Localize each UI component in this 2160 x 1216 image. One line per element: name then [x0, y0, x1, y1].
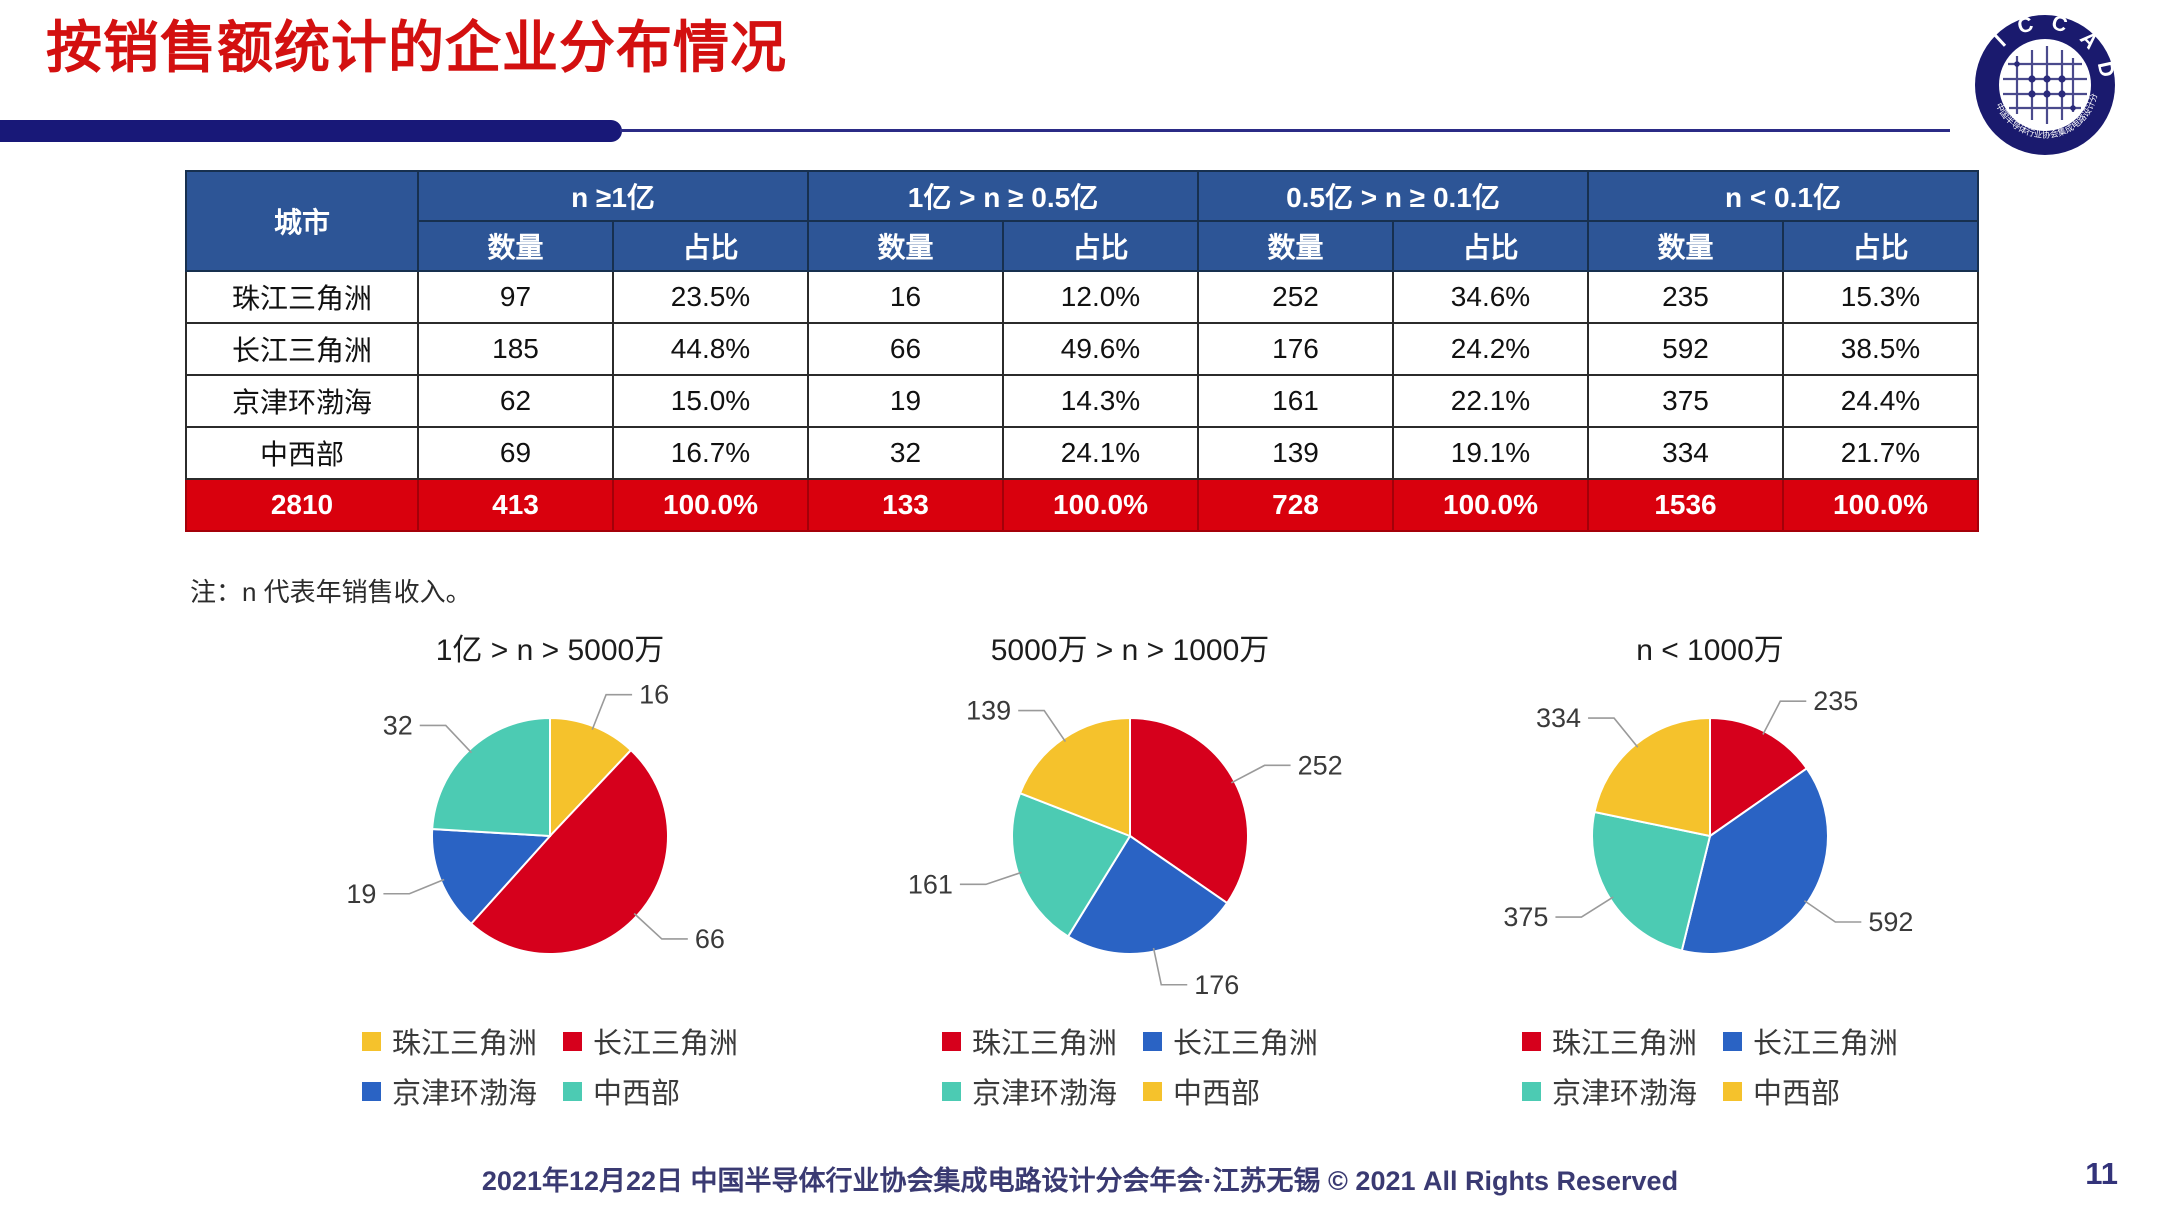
pie-leader-line [420, 725, 472, 752]
total-cell: 413 [418, 479, 613, 531]
pie-leader-line [1555, 897, 1613, 917]
cell-region: 珠江三角洲 [186, 271, 418, 323]
total-cell: 2810 [186, 479, 418, 531]
table-head: 城市 n ≥1亿 1亿 > n ≥ 0.5亿 0.5亿 > n ≥ 0.1亿 n… [186, 171, 1978, 271]
sub-header-8: 占比 [1783, 221, 1978, 271]
cell-value: 19.1% [1393, 427, 1588, 479]
legend-item[interactable]: 长江三角洲 [1723, 1020, 1898, 1062]
cell-value: 139 [1198, 427, 1393, 479]
cell-value: 16 [808, 271, 1003, 323]
pie-data-label: 334 [1536, 703, 1581, 733]
chart-title: 1亿 > n > 5000万 [250, 630, 850, 672]
sub-header-4: 占比 [1003, 221, 1198, 271]
cell-value: 592 [1588, 323, 1783, 375]
total-cell: 100.0% [1783, 479, 1978, 531]
footer-text: 2021年12月22日 中国半导体行业协会集成电路设计分会年会·江苏无锡 © 2… [0, 1159, 2160, 1198]
legend-label: 中西部 [1753, 1070, 1840, 1112]
iccad-logo: I C C A D 中国半导体行业协会集成电路设计分会 [1972, 12, 2118, 158]
pie-data-label: 592 [1868, 907, 1913, 937]
cell-value: 15.0% [613, 375, 808, 427]
pie-leader-line [592, 695, 632, 730]
group-header-1: 1亿 > n ≥ 0.5亿 [808, 171, 1198, 221]
cell-value: 235 [1588, 271, 1783, 323]
legend-item[interactable]: 京津环渤海 [1522, 1070, 1697, 1112]
pie-svg: 235592375334 [1410, 676, 2010, 1006]
cell-region: 中西部 [186, 427, 418, 479]
iccad-logo-icon: I C C A D 中国半导体行业协会集成电路设计分会 [1972, 12, 2118, 158]
pie-leader-line [383, 879, 444, 893]
legend-swatch-icon [942, 1082, 961, 1101]
pie-svg: 252176161139 [830, 676, 1430, 1006]
cell-value: 14.3% [1003, 375, 1198, 427]
cell-value: 334 [1588, 427, 1783, 479]
legend-label: 京津环渤海 [1552, 1070, 1697, 1112]
cell-value: 375 [1588, 375, 1783, 427]
legend-item[interactable]: 中西部 [563, 1070, 738, 1112]
group-header-2: 0.5亿 > n ≥ 0.1亿 [1198, 171, 1588, 221]
cell-value: 252 [1198, 271, 1393, 323]
cell-value: 161 [1198, 375, 1393, 427]
chart-title: 5000万 > n > 1000万 [830, 630, 1430, 672]
legend-item[interactable]: 中西部 [1143, 1070, 1318, 1112]
legend-swatch-icon [1723, 1082, 1742, 1101]
table-body: 珠江三角洲 97 23.5% 16 12.0% 252 34.6% 235 15… [186, 271, 1978, 531]
legend-swatch-icon [1723, 1032, 1742, 1051]
title-rule-thin [620, 129, 1950, 132]
table-total-row: 2810 413 100.0% 133 100.0% 728 100.0% 15… [186, 479, 1978, 531]
cell-value: 19 [808, 375, 1003, 427]
pie-leader-line [1804, 901, 1861, 922]
cell-value: 22.1% [1393, 375, 1588, 427]
pie-data-label: 66 [695, 924, 725, 954]
cell-value: 21.7% [1783, 427, 1978, 479]
table-sub-header-row: 数量 占比 数量 占比 数量 占比 数量 占比 [186, 221, 1978, 271]
total-cell: 728 [1198, 479, 1393, 531]
group-header-3: n < 0.1亿 [1588, 171, 1978, 221]
enterprise-distribution-table: 城市 n ≥1亿 1亿 > n ≥ 0.5亿 0.5亿 > n ≥ 0.1亿 n… [185, 170, 1979, 532]
legend-label: 长江三角洲 [1753, 1020, 1898, 1062]
pie-chart-1: 252176161139 [830, 676, 1430, 1006]
total-cell: 100.0% [1003, 479, 1198, 531]
chart-title: n < 1000万 [1410, 630, 2010, 672]
cell-value: 176 [1198, 323, 1393, 375]
cell-region: 长江三角洲 [186, 323, 418, 375]
pie-leader-line [1763, 701, 1806, 734]
legend-label: 京津环渤海 [972, 1070, 1117, 1112]
legend-swatch-icon [362, 1032, 381, 1051]
sub-header-1: 数量 [418, 221, 613, 271]
cell-value: 16.7% [613, 427, 808, 479]
legend-item[interactable]: 京津环渤海 [942, 1070, 1117, 1112]
group-header-0: n ≥1亿 [418, 171, 808, 221]
legend-item[interactable]: 珠江三角洲 [942, 1020, 1117, 1062]
cell-value: 23.5% [613, 271, 808, 323]
table-row: 长江三角洲 185 44.8% 66 49.6% 176 24.2% 592 3… [186, 323, 1978, 375]
legend-item[interactable]: 长江三角洲 [1143, 1020, 1318, 1062]
total-cell: 100.0% [1393, 479, 1588, 531]
legend-label: 长江三角洲 [593, 1020, 738, 1062]
sub-header-3: 数量 [808, 221, 1003, 271]
pie-data-label: 176 [1194, 970, 1239, 1000]
chart-legend-1: 珠江三角洲长江三角洲京津环渤海中西部 [830, 1020, 1430, 1112]
page-number: 11 [2085, 1156, 2118, 1192]
cell-value: 34.6% [1393, 271, 1588, 323]
cell-value: 44.8% [613, 323, 808, 375]
pie-chart-2: 235592375334 [1410, 676, 2010, 1006]
legend-swatch-icon [942, 1032, 961, 1051]
pie-data-label: 139 [966, 696, 1011, 726]
pie-leader-line [960, 872, 1022, 884]
sub-header-2: 占比 [613, 221, 808, 271]
pie-leader-line [1231, 765, 1290, 782]
pie-svg: 16661932 [250, 676, 850, 1006]
legend-label: 中西部 [1173, 1070, 1260, 1112]
cell-value: 32 [808, 427, 1003, 479]
total-cell: 1536 [1588, 479, 1783, 531]
page-title: 按销售额统计的企业分布情况 [46, 16, 787, 80]
legend-swatch-icon [563, 1032, 582, 1051]
cell-value: 66 [808, 323, 1003, 375]
cell-value: 185 [418, 323, 613, 375]
pie-data-label: 375 [1503, 902, 1548, 932]
pie-chart-block-2: n < 1000万 235592375334 珠江三角洲长江三角洲京津环渤海中西… [1410, 630, 2010, 1112]
legend-swatch-icon [1143, 1032, 1162, 1051]
legend-item[interactable]: 珠江三角洲 [362, 1020, 537, 1062]
sub-header-5: 数量 [1198, 221, 1393, 271]
pie-data-label: 161 [908, 869, 953, 899]
pie-leader-line [1154, 948, 1188, 985]
cell-value: 15.3% [1783, 271, 1978, 323]
legend-item[interactable]: 长江三角洲 [563, 1020, 738, 1062]
legend-swatch-icon [1143, 1082, 1162, 1101]
legend-label: 珠江三角洲 [1552, 1020, 1697, 1062]
legend-item[interactable]: 京津环渤海 [362, 1070, 537, 1112]
cell-value: 24.1% [1003, 427, 1198, 479]
pie-data-label: 252 [1298, 750, 1343, 780]
table-note: 注：n 代表年销售收入。 [190, 572, 472, 609]
legend-label: 京津环渤海 [392, 1070, 537, 1112]
pie-slice [432, 718, 550, 836]
header-city: 城市 [186, 171, 418, 271]
pie-data-label: 16 [639, 680, 669, 710]
table-row: 珠江三角洲 97 23.5% 16 12.0% 252 34.6% 235 15… [186, 271, 1978, 323]
cell-value: 24.2% [1393, 323, 1588, 375]
pie-chart-block-0: 1亿 > n > 5000万 16661932 珠江三角洲长江三角洲京津环渤海中… [250, 630, 850, 1112]
chart-legend-0: 珠江三角洲长江三角洲京津环渤海中西部 [250, 1020, 850, 1112]
sub-header-6: 占比 [1393, 221, 1588, 271]
pie-data-label: 235 [1813, 686, 1858, 716]
legend-swatch-icon [362, 1082, 381, 1101]
legend-item[interactable]: 中西部 [1723, 1070, 1898, 1112]
cell-value: 69 [418, 427, 613, 479]
legend-swatch-icon [1522, 1032, 1541, 1051]
legend-label: 珠江三角洲 [392, 1020, 537, 1062]
sub-header-7: 数量 [1588, 221, 1783, 271]
legend-swatch-icon [1522, 1082, 1541, 1101]
pie-leader-line [1588, 718, 1638, 747]
total-cell: 133 [808, 479, 1003, 531]
cell-value: 62 [418, 375, 613, 427]
pie-leader-line [1018, 711, 1065, 742]
cell-region: 京津环渤海 [186, 375, 418, 427]
cell-value: 24.4% [1783, 375, 1978, 427]
table-row: 中西部 69 16.7% 32 24.1% 139 19.1% 334 21.7… [186, 427, 1978, 479]
table-group-header-row: 城市 n ≥1亿 1亿 > n ≥ 0.5亿 0.5亿 > n ≥ 0.1亿 n… [186, 171, 1978, 221]
table-row: 京津环渤海 62 15.0% 19 14.3% 161 22.1% 375 24… [186, 375, 1978, 427]
legend-item[interactable]: 珠江三角洲 [1522, 1020, 1697, 1062]
legend-swatch-icon [563, 1082, 582, 1101]
legend-label: 中西部 [593, 1070, 680, 1112]
pie-chart-block-1: 5000万 > n > 1000万 252176161139 珠江三角洲长江三角… [830, 630, 1430, 1112]
legend-label: 珠江三角洲 [972, 1020, 1117, 1062]
title-rule-thick [0, 120, 622, 142]
pie-leader-line [634, 914, 688, 939]
cell-value: 49.6% [1003, 323, 1198, 375]
chart-legend-2: 珠江三角洲长江三角洲京津环渤海中西部 [1410, 1020, 2010, 1112]
total-cell: 100.0% [613, 479, 808, 531]
legend-label: 长江三角洲 [1173, 1020, 1318, 1062]
pie-chart-0: 16661932 [250, 676, 850, 1006]
pie-data-label: 32 [383, 710, 413, 740]
pie-data-label: 19 [346, 879, 376, 909]
cell-value: 38.5% [1783, 323, 1978, 375]
cell-value: 12.0% [1003, 271, 1198, 323]
cell-value: 97 [418, 271, 613, 323]
